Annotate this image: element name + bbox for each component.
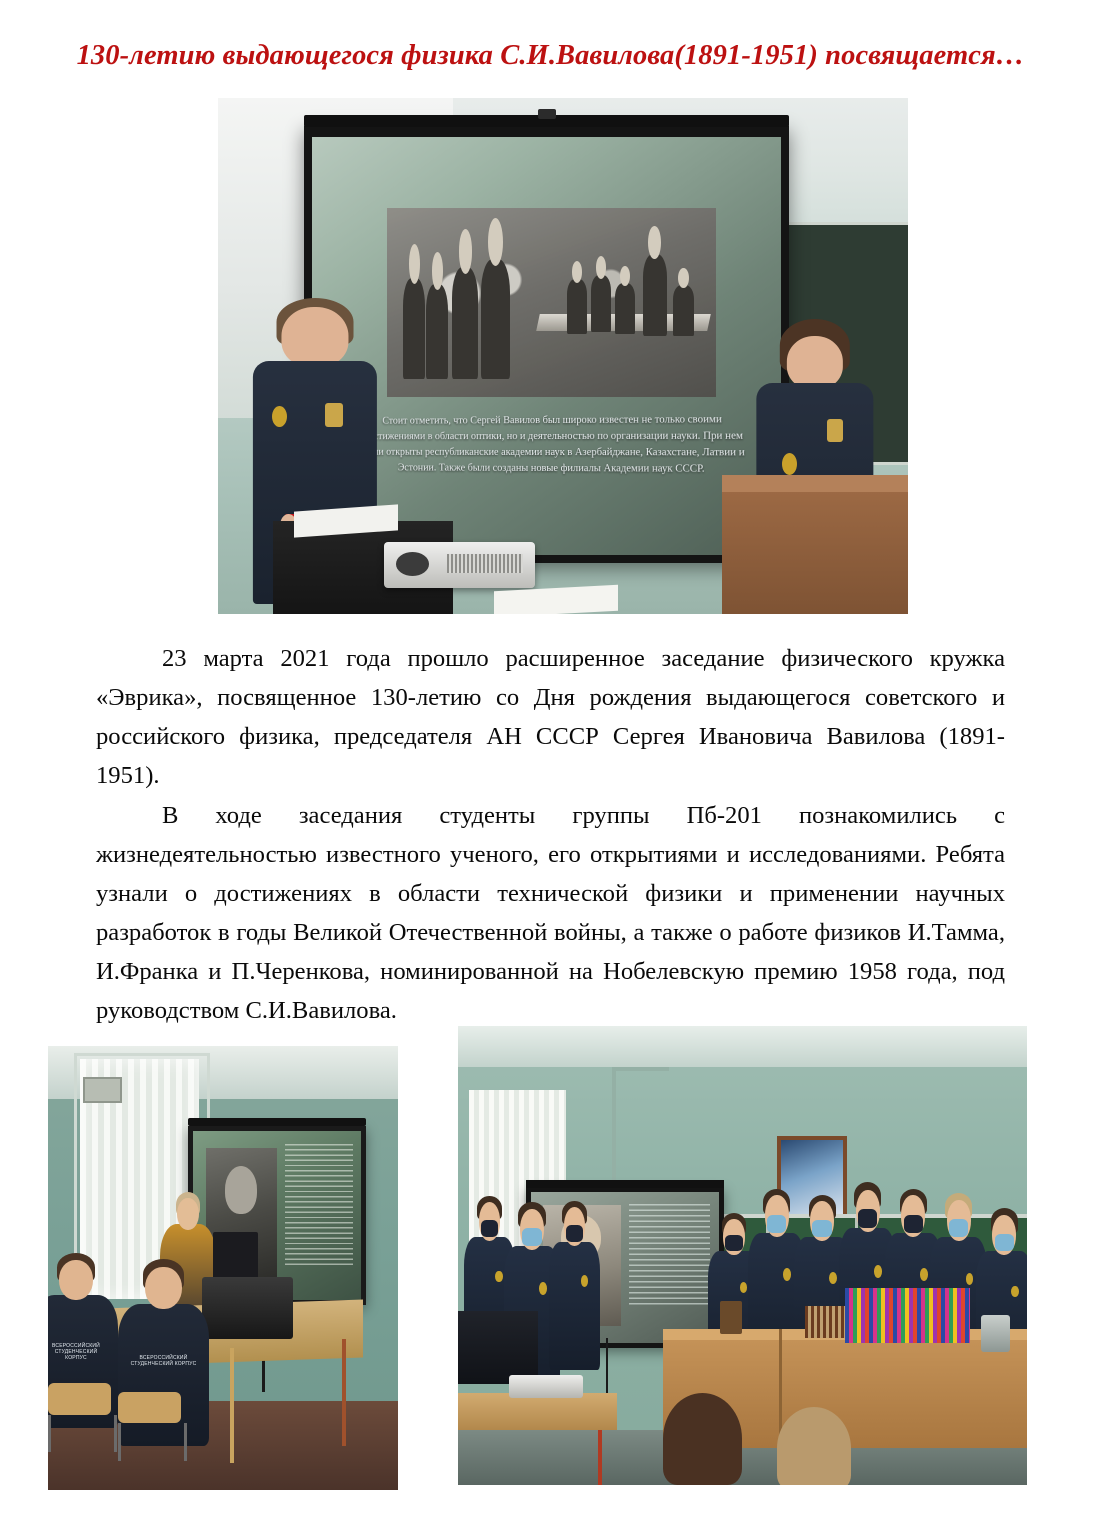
hero-projector (384, 542, 536, 588)
bl-wall-plaque (83, 1077, 122, 1103)
br-colored-folders (845, 1288, 970, 1343)
br-cadet-3 (549, 1242, 600, 1371)
bl-chair-1 (48, 1383, 111, 1414)
hero-slide-archive-photo (387, 208, 715, 396)
bl-uniform-back-text-2: ВСЕРОССИЙСКИЙ СТУДЕНЧЕСКИЙ КОРПУС (129, 1355, 198, 1368)
br-lab-stands (805, 1306, 851, 1338)
br-ceiling (458, 1026, 1027, 1067)
hero-projection-screen: Стоит отметить, что Сергей Вавилов был ш… (304, 126, 789, 563)
paragraph-1: 23 марта 2021 года прошло расширенное за… (96, 640, 1005, 795)
br-pipe-horizontal (612, 1067, 669, 1071)
photo-bottom-left: ВСЕРОССИЙСКИЙ СТУДЕНЧЕСКИЙ КОРПУС ВСЕРОС… (48, 1046, 398, 1490)
bl-uniform-back-text-1: ВСЕРОССИЙСКИЙ СТУДЕНЧЕСКИЙ КОРПУС (48, 1343, 108, 1362)
page-title: 130-летию выдающегося физика С.И.Вавилов… (0, 40, 1101, 72)
br-projector (509, 1375, 583, 1398)
bl-desk-leg-2 (342, 1339, 346, 1446)
bl-printer (202, 1277, 293, 1339)
bl-desk-leg-1 (230, 1348, 234, 1463)
bl-chair-2 (118, 1392, 181, 1423)
br-classroom-wall (458, 1026, 1027, 1485)
photo-bottom-right (458, 1026, 1027, 1485)
br-foreground-head-2 (777, 1407, 851, 1485)
projector-vent (447, 554, 523, 574)
br-pen-cup (720, 1301, 743, 1333)
hero-wooden-podium (722, 475, 908, 614)
photo-hero: Стоит отметить, что Сергей Вавилов был ш… (218, 98, 908, 614)
hero-classroom-wall: Стоит отметить, что Сергей Вавилов был ш… (218, 98, 908, 614)
bl-slide-text-block (285, 1144, 352, 1265)
document-page: 130-летию выдающегося физика С.И.Вавилов… (0, 0, 1101, 1523)
paragraph-2: В ходе заседания студенты группы Пб-201 … (96, 797, 1005, 1030)
article-body: 23 марта 2021 года прошло расширенное за… (96, 640, 1005, 1030)
hero-papers-floor (494, 585, 618, 614)
hero-slide-text: Стоит отметить, что Сергей Вавилов был ш… (357, 412, 751, 479)
bl-classroom-wall: ВСЕРОССИЙСКИЙ СТУДЕНЧЕСКИЙ КОРПУС ВСЕРОС… (48, 1046, 398, 1490)
br-slide-text-block (629, 1204, 710, 1307)
br-glass-jar (981, 1315, 1009, 1352)
projector-lens-icon (396, 552, 429, 576)
br-foreground-head-1 (663, 1393, 743, 1485)
bl-monitor (213, 1232, 259, 1281)
br-projector-table (458, 1393, 617, 1430)
br-computer-unit (458, 1311, 538, 1384)
